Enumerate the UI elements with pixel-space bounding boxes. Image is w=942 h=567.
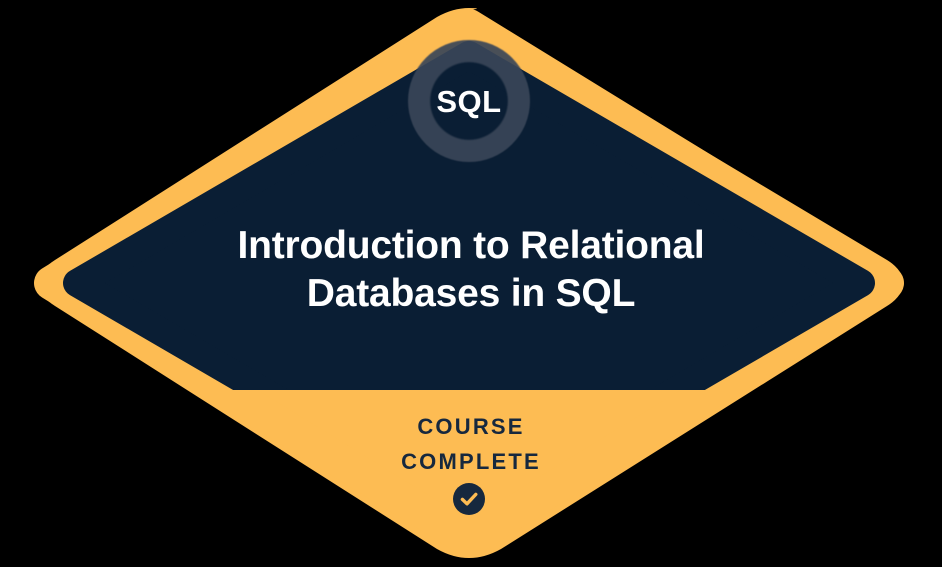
course-title-line-1: Introduction to Relational [81, 222, 861, 270]
check-circle-icon [453, 483, 485, 515]
status-text: COURSE COMPLETE [261, 409, 681, 479]
course-title: Introduction to Relational Databases in … [81, 222, 861, 318]
course-complete-status: COURSE COMPLETE [261, 409, 681, 479]
sql-monogram-circle: SQL [408, 40, 530, 162]
status-line-2: COMPLETE [261, 444, 681, 479]
badge-canvas: SQL Introduction to Relational Databases… [0, 0, 942, 567]
monogram-label: SQL [436, 86, 501, 117]
badge-content-overlay: SQL Introduction to Relational Databases… [0, 0, 942, 567]
status-line-1: COURSE [261, 409, 681, 444]
course-title-line-2: Databases in SQL [81, 270, 861, 318]
